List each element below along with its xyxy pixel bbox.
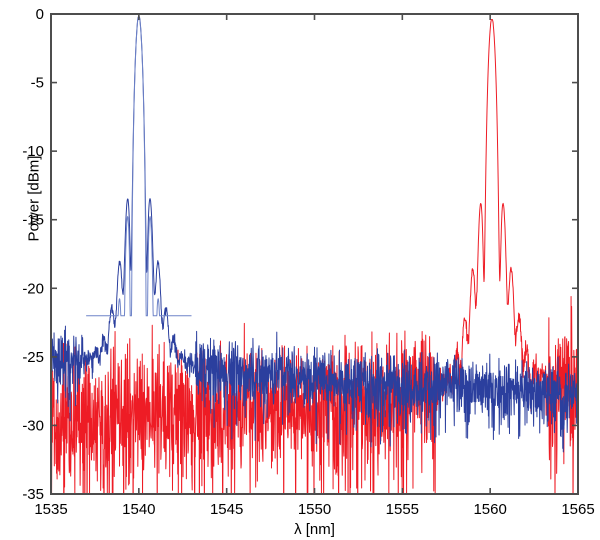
plot-canvas: 15351540154515501555156015650-5-10-15-20… <box>0 0 600 540</box>
x-tick-label: 1555 <box>386 501 419 518</box>
y-tick-label: -35 <box>22 486 44 503</box>
y-tick-label: -30 <box>22 417 44 434</box>
y-tick-label: 0 <box>36 6 44 23</box>
x-tick-label: 1545 <box>210 501 243 518</box>
x-axis-label: λ [nm] <box>294 521 335 538</box>
x-tick-label: 1565 <box>561 501 594 518</box>
y-axis-label: Power [dBm] <box>26 109 43 289</box>
x-tick-label: 1540 <box>122 501 155 518</box>
y-tick-label: -25 <box>22 349 44 366</box>
spectrum-figure: 15351540154515501555156015650-5-10-15-20… <box>0 0 600 540</box>
x-tick-label: 1560 <box>473 501 506 518</box>
x-tick-label: 1550 <box>298 501 331 518</box>
y-tick-label: -5 <box>31 75 44 92</box>
x-tick-label: 1535 <box>34 501 67 518</box>
